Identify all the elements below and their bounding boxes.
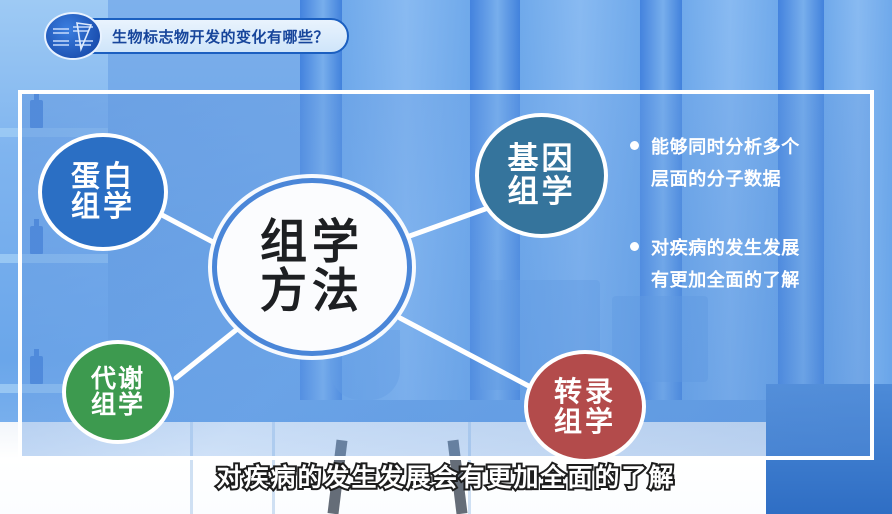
bullet-line2: 层面的分子数据 <box>651 164 800 196</box>
bullet-line1: 能够同时分析多个 <box>651 132 800 164</box>
title-pill: 生物标志物开发的变化有哪些？ <box>74 18 349 54</box>
bullet-dot-icon <box>630 141 639 150</box>
brand-badge-icon[interactable] <box>44 12 102 60</box>
header-bar: 生物标志物开发的变化有哪些？ <box>0 0 892 86</box>
bullet-text: 能够同时分析多个 层面的分子数据 <box>651 132 800 195</box>
bullet-item: 能够同时分析多个 层面的分子数据 <box>630 132 882 195</box>
bullet-list: 能够同时分析多个 层面的分子数据 对疾病的发生发展 有更加全面的了解 <box>630 132 882 334</box>
bullet-item: 对疾病的发生发展 有更加全面的了解 <box>630 233 882 296</box>
center-line1: 组学 <box>260 218 364 267</box>
node-omics-methods[interactable]: 组学 方法 <box>212 178 412 356</box>
center-line2: 方法 <box>260 267 364 316</box>
node-line2: 组学 <box>71 192 135 222</box>
node-line1: 转录 <box>554 377 616 406</box>
bullet-line2: 有更加全面的了解 <box>651 265 800 297</box>
node-transcriptomics[interactable]: 转录 组学 <box>524 350 646 463</box>
node-proteomics[interactable]: 蛋白 组学 <box>38 133 168 251</box>
node-genomics[interactable]: 基因 组学 <box>475 113 608 238</box>
bullet-dot-icon <box>630 242 639 251</box>
page-title: 生物标志物开发的变化有哪些？ <box>112 26 329 47</box>
node-line1: 蛋白 <box>71 162 135 192</box>
bullet-line1: 对疾病的发生发展 <box>651 233 800 265</box>
node-line2: 组学 <box>554 407 616 436</box>
node-line1: 基因 <box>508 143 576 175</box>
node-line2: 组学 <box>91 392 145 418</box>
bullet-text: 对疾病的发生发展 有更加全面的了解 <box>651 233 800 296</box>
node-line2: 组学 <box>508 176 576 208</box>
subtitle-caption: 对疾病的发生发展会有更加全面的了解 <box>0 458 892 494</box>
node-line1: 代谢 <box>91 366 145 392</box>
node-metabolomics[interactable]: 代谢 组学 <box>62 340 174 444</box>
